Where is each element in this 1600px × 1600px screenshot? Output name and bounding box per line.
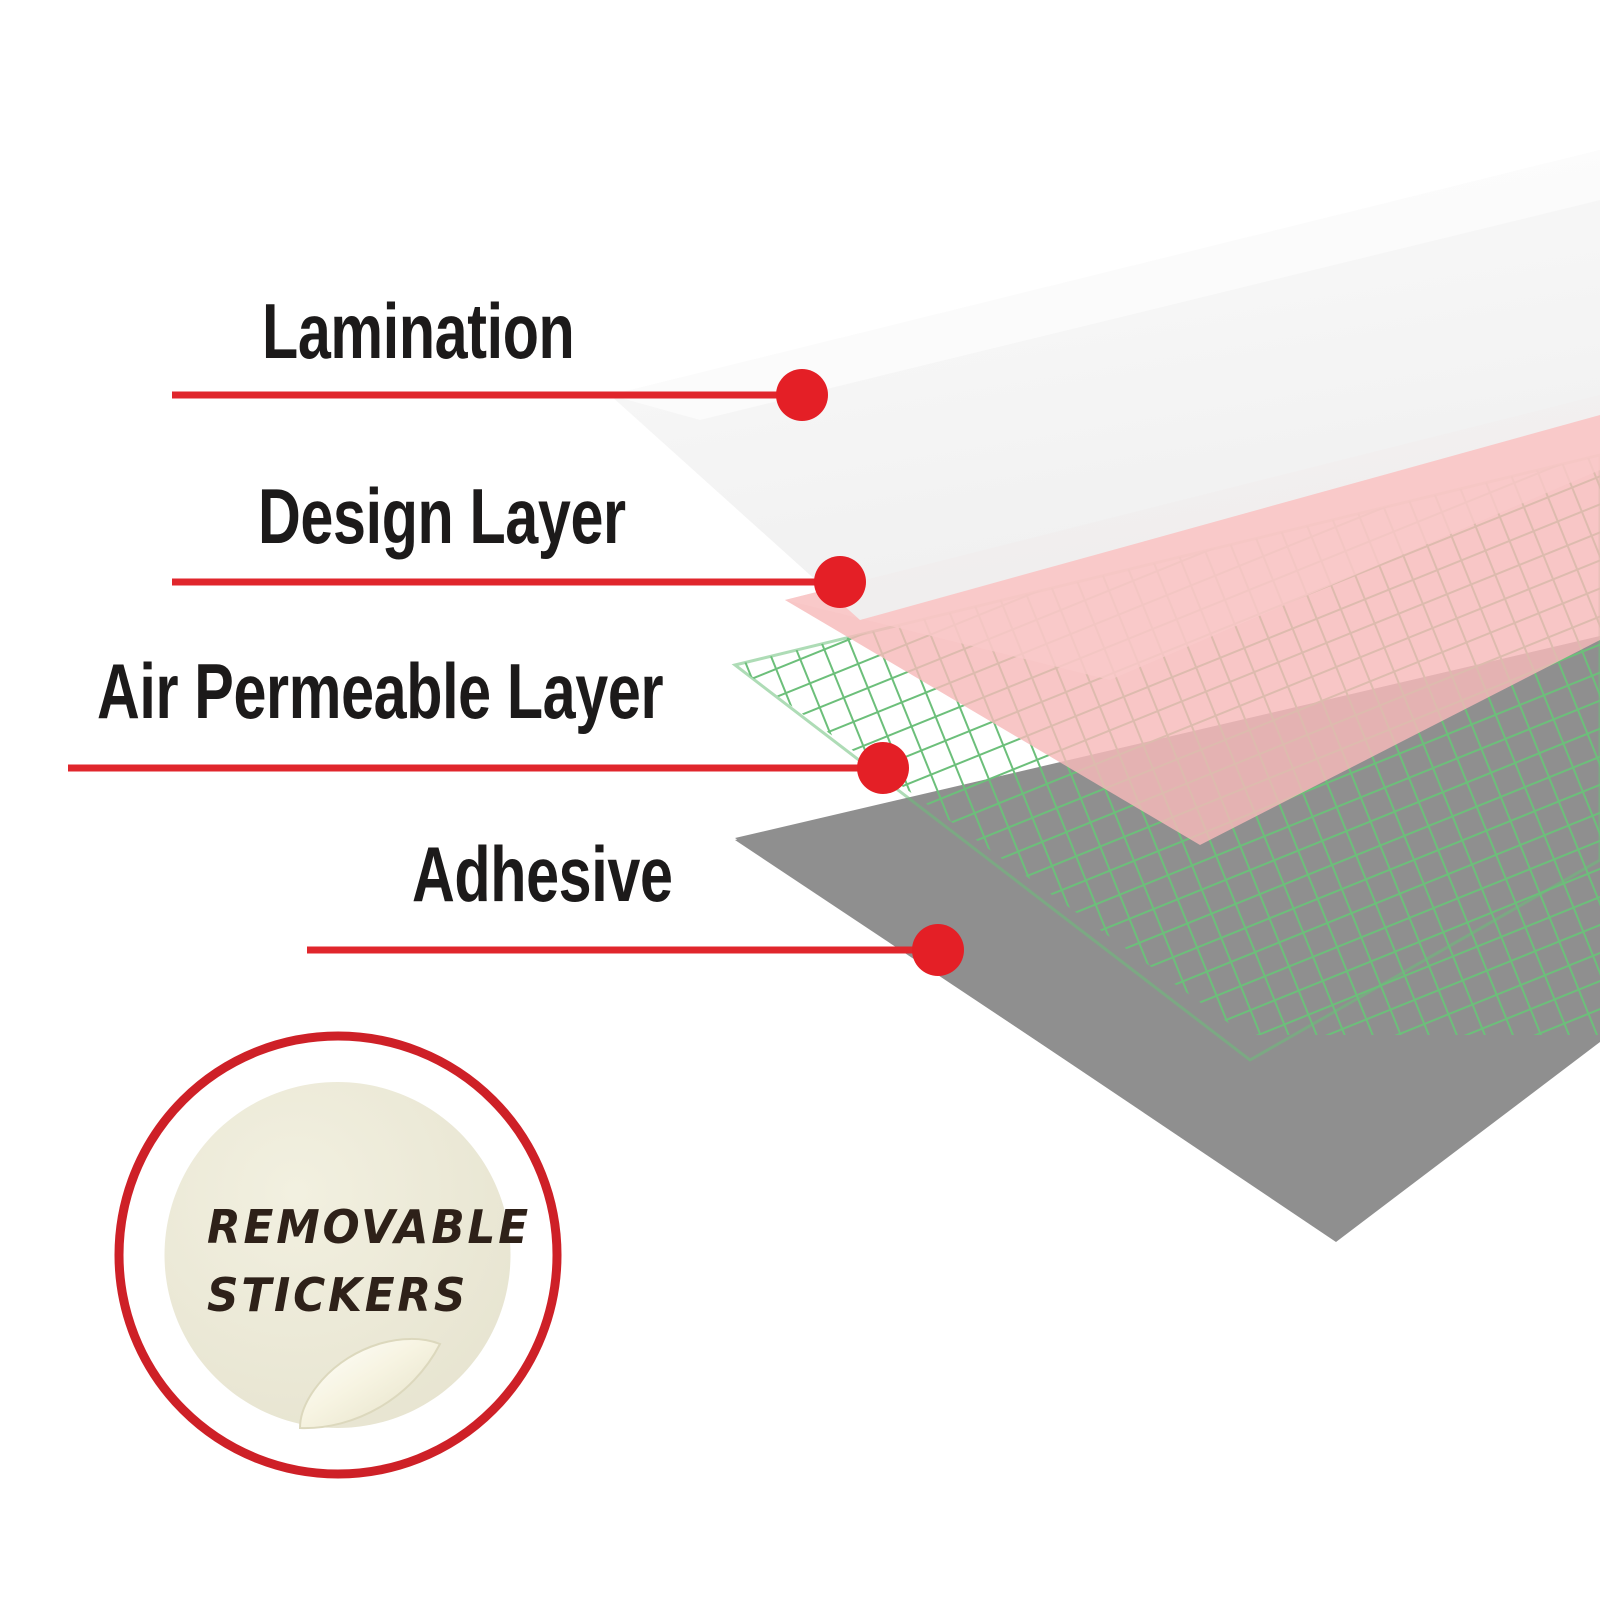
callout-dot-adhesive [912,924,964,976]
badge-text-line-1: REMOVABLE [207,1200,531,1254]
removable-sticker-badge[interactable] [119,1036,557,1474]
callout-dot-lamination [776,369,828,421]
callout-air-permeable [68,742,909,794]
layer-label-design: Design Layer [258,477,626,555]
diagram-canvas: Lamination Design Layer Air Permeable La… [0,0,1600,1600]
callout-design [172,556,866,608]
layer-label-air-permeable: Air Permeable Layer [97,652,663,730]
callout-adhesive [307,924,964,976]
badge-text-line-2: STICKERS [207,1268,468,1322]
callout-dot-design [814,556,866,608]
callout-dot-air-permeable [857,742,909,794]
layer-label-lamination: Lamination [262,292,574,370]
layer-stack-illustration [0,0,1600,1600]
layer-label-adhesive: Adhesive [412,835,673,913]
